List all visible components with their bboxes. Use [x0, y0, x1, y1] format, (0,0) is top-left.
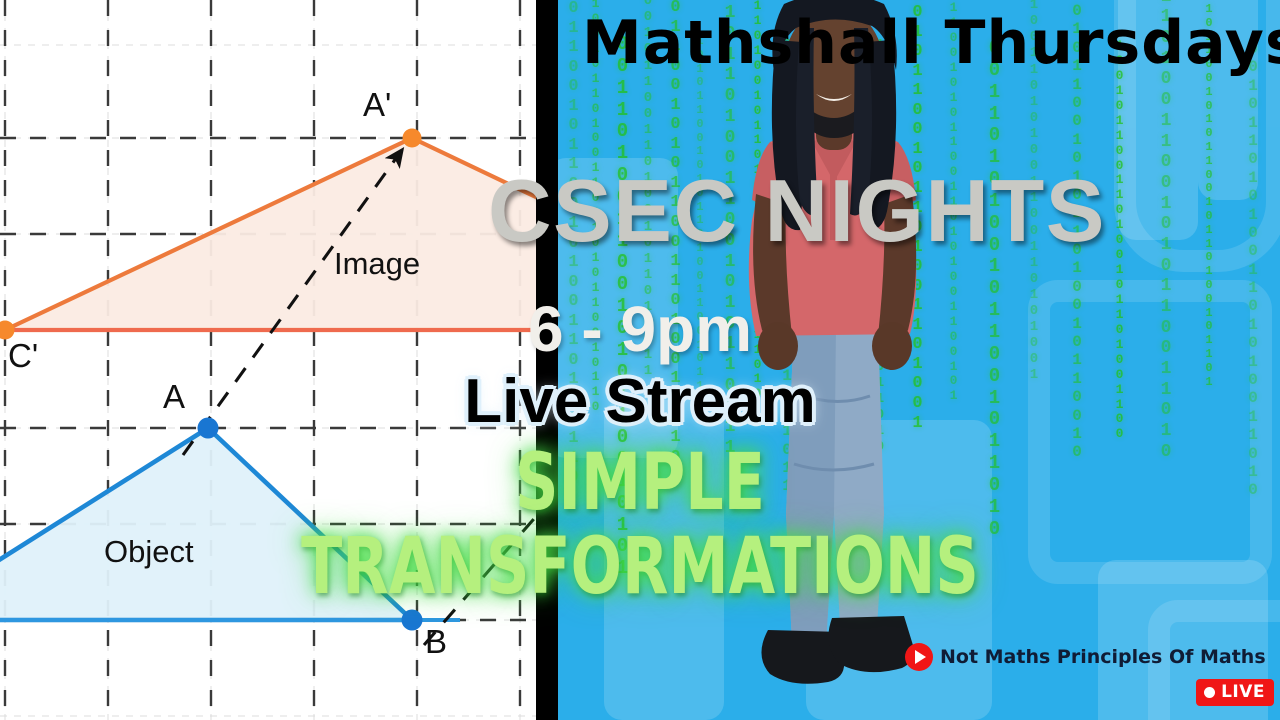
live-badge-label: LIVE: [1221, 682, 1265, 702]
label-b: B: [425, 625, 447, 658]
channel-name-text: Not Maths Principles Of Maths: [940, 646, 1266, 668]
status-badge-live: LIVE: [1196, 679, 1274, 706]
channel-branding-bar[interactable]: Not Maths Principles Of Maths: [905, 643, 1266, 671]
youtube-play-icon[interactable]: [905, 643, 933, 671]
time-text: 6 - 9pm: [0, 292, 1280, 366]
label-image-region: Image: [334, 248, 420, 279]
label-a-prime: A': [363, 88, 391, 121]
thumbnail-canvas: A' C' A B Image Object 01011001011001010…: [0, 0, 1280, 720]
topic-line-1: SIMPLE: [90, 438, 1191, 528]
topic-line-2: TRANSFORMATIONS: [90, 522, 1191, 612]
headline-text: Mathshall Thursdays: [582, 8, 1280, 78]
live-record-dot-icon: [1204, 687, 1215, 698]
series-title-text: CSEC NIGHTS: [488, 160, 1106, 262]
stream-type-text: Live Stream: [0, 366, 1280, 437]
